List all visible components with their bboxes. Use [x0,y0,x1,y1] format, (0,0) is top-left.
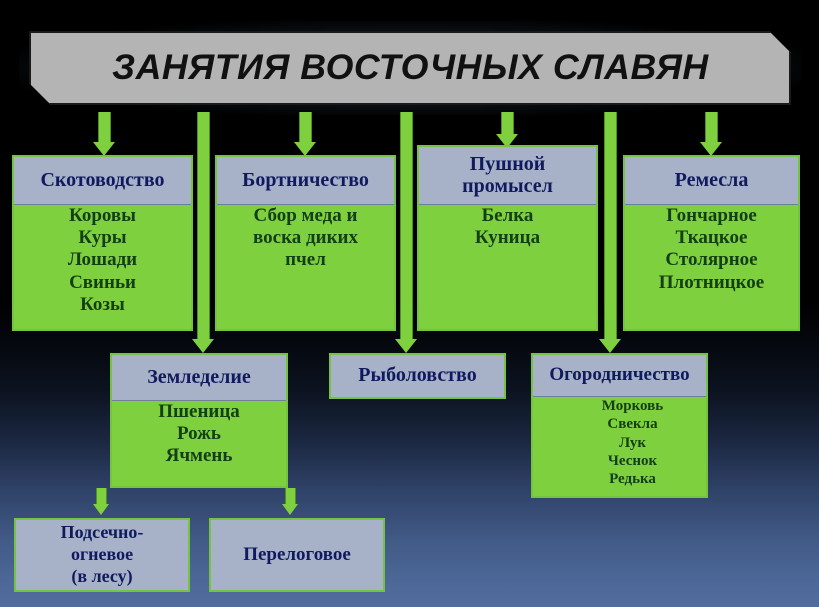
node-beekeeping[interactable]: Бортничество Сбор меда и воска диких пче… [215,155,396,331]
list-item: Чеснок [608,452,657,470]
node-agriculture[interactable]: Земледелие Пшеница Рожь Ячмень [110,353,288,488]
node-gardening[interactable]: Огородничество Морковь Свекла Лук Чеснок… [531,353,708,498]
title-line-3: (в лесу) [71,566,132,588]
node-slash-and-burn-title: Подсечно- огневое (в лесу) [16,520,188,590]
node-crafts[interactable]: Ремесла Гончарное Ткацкое Столярное Плот… [623,155,800,331]
list-item: Куры [78,227,126,249]
list-item: Свекла [607,415,657,433]
list-item: Ячмень [166,445,233,467]
title-line-2: огневое [71,544,133,566]
list-item: Редька [609,470,656,488]
list-item: Столярное [665,249,757,271]
node-fur-trade-title: Пушной промысел [419,147,596,205]
list-item: Рожь [177,423,221,445]
node-gardening-items: Морковь Свекла Лук Чеснок Редька [533,397,706,488]
title-line-1: Пушной [470,154,546,175]
list-item: Сбор меда и [254,205,358,227]
node-crafts-items: Гончарное Ткацкое Столярное Плотницкое [625,205,798,294]
node-fallow-title: Перелоговое [211,520,383,590]
list-item: Лук [619,434,646,452]
node-cattle[interactable]: Скотоводство Коровы Куры Лошади Свиньи К… [12,155,193,331]
node-beekeeping-items: Сбор меда и воска диких пчел [217,205,394,272]
title-line-1: Подсечно- [61,522,144,544]
list-item: Коровы [69,205,136,227]
list-item: Морковь [602,397,663,415]
list-item: Куница [475,227,540,249]
node-fishing[interactable]: Рыболовство [329,353,506,399]
node-cattle-items: Коровы Куры Лошади Свиньи Козы [14,205,191,316]
node-fishing-title: Рыболовство [331,355,504,397]
node-fallow[interactable]: Перелоговое [209,518,385,592]
node-fur-trade-items: Белка Куница [419,205,596,249]
node-beekeeping-title: Бортничество [217,157,394,205]
title-line-2: промысел [462,176,553,197]
list-item: Ткацкое [676,227,748,249]
list-item: Пшеница [158,401,240,423]
title-banner: ЗАНЯТИЯ ВОСТОЧНЫХ СЛАВЯН [29,31,791,105]
node-slash-and-burn[interactable]: Подсечно- огневое (в лесу) [14,518,190,592]
node-fur-trade[interactable]: Пушной промысел Белка Куница [417,145,598,331]
list-item: Гончарное [666,205,757,227]
node-agriculture-items: Пшеница Рожь Ячмень [112,401,286,468]
list-item: Лошади [68,249,137,271]
list-item: Свиньи [69,272,136,294]
list-item: пчел [285,249,326,271]
list-item: воска диких [253,227,358,249]
page-title: ЗАНЯТИЯ ВОСТОЧНЫХ СЛАВЯН [112,48,709,88]
slide-canvas: ЗАНЯТИЯ ВОСТОЧНЫХ СЛАВЯН [0,0,819,607]
list-item: Козы [80,294,125,316]
list-item: Плотницкое [659,272,765,294]
node-cattle-title: Скотоводство [14,157,191,205]
node-gardening-title: Огородничество [533,355,706,397]
node-crafts-title: Ремесла [625,157,798,205]
list-item: Белка [482,205,534,227]
node-agriculture-title: Земледелие [112,355,286,401]
